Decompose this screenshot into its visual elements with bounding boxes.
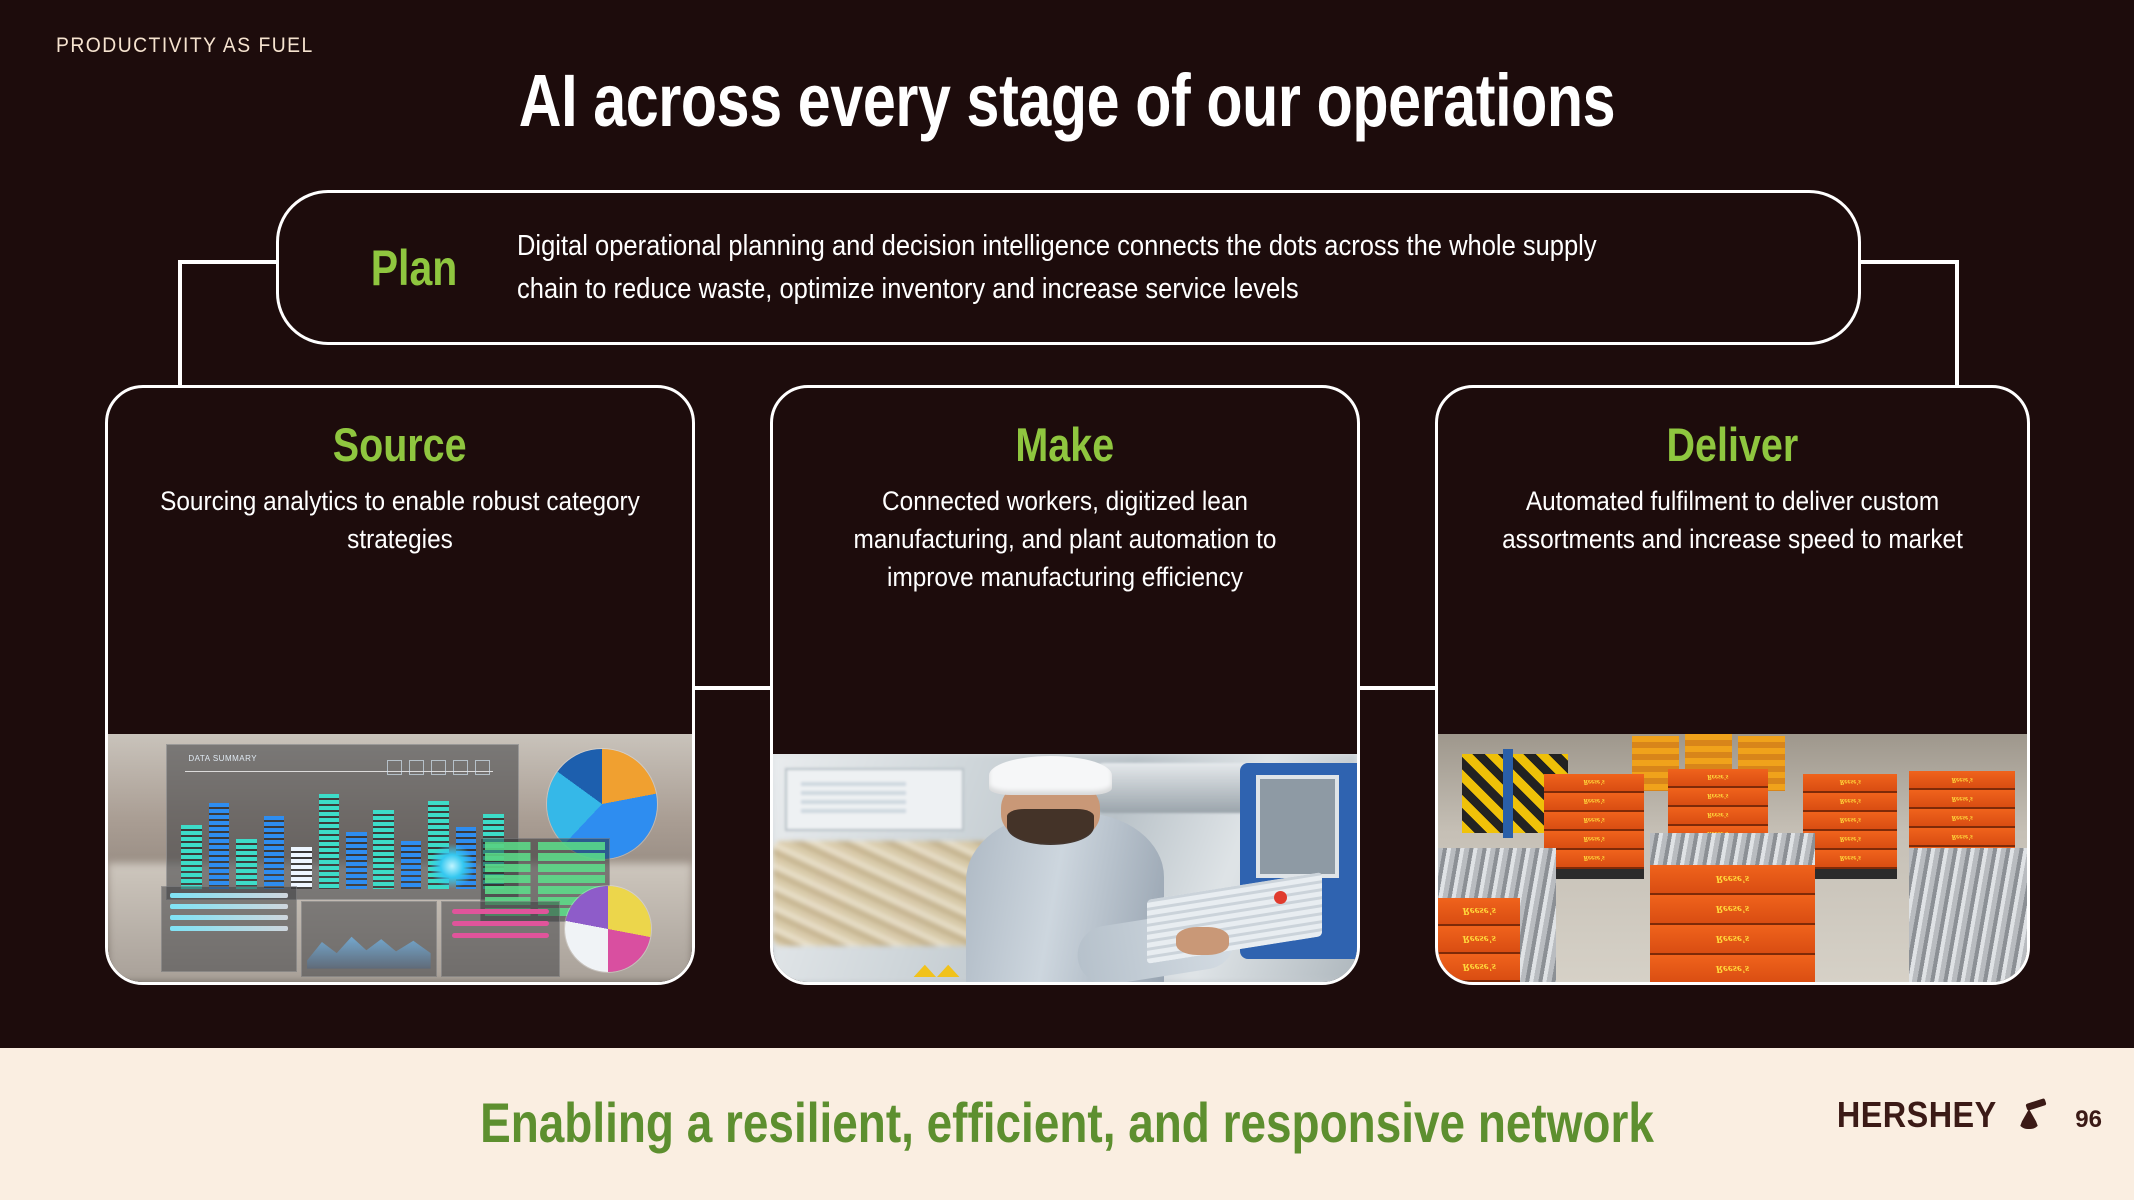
card-source-image: DATA SUMMARY (108, 734, 692, 982)
card-source-description: Sourcing analytics to enable robust cate… (131, 483, 668, 558)
card-make-image (773, 754, 1357, 982)
card-deliver-title: Deliver (1667, 420, 1799, 469)
hershey-logo: HERSHEY (1828, 1094, 2042, 1136)
page-title: AI across every stage of our operations (213, 62, 1920, 140)
card-make-title: Make (1016, 420, 1115, 469)
hershey-kiss-icon (2016, 1101, 2042, 1129)
footer-band: Enabling a resilient, efficient, and res… (0, 1048, 2134, 1200)
card-make: Make Connected workers, digitized lean m… (770, 385, 1360, 985)
page-number: 96 (2075, 1106, 2102, 1134)
footer-tagline: Enabling a resilient, efficient, and res… (192, 1090, 1942, 1155)
eyebrow-label: PRODUCTIVITY AS FUEL (56, 34, 314, 58)
card-make-description: Connected workers, digitized lean manufa… (796, 483, 1333, 596)
plan-label: Plan (320, 239, 509, 297)
card-source: Source Sourcing analytics to enable robu… (105, 385, 695, 985)
plan-box: Plan Digital operational planning and de… (276, 190, 1861, 345)
card-deliver-description: Automated fulfilment to deliver custom a… (1462, 483, 2004, 558)
card-deliver: Deliver Automated fulfilment to deliver … (1435, 385, 2030, 985)
plan-description: Digital operational planning and decisio… (517, 225, 1652, 311)
card-source-title: Source (333, 420, 467, 469)
card-deliver-image (1438, 734, 2027, 982)
hershey-wordmark: HERSHEY (1837, 1094, 1997, 1136)
slide-root: PRODUCTIVITY AS FUEL AI across every sta… (0, 0, 2134, 1200)
